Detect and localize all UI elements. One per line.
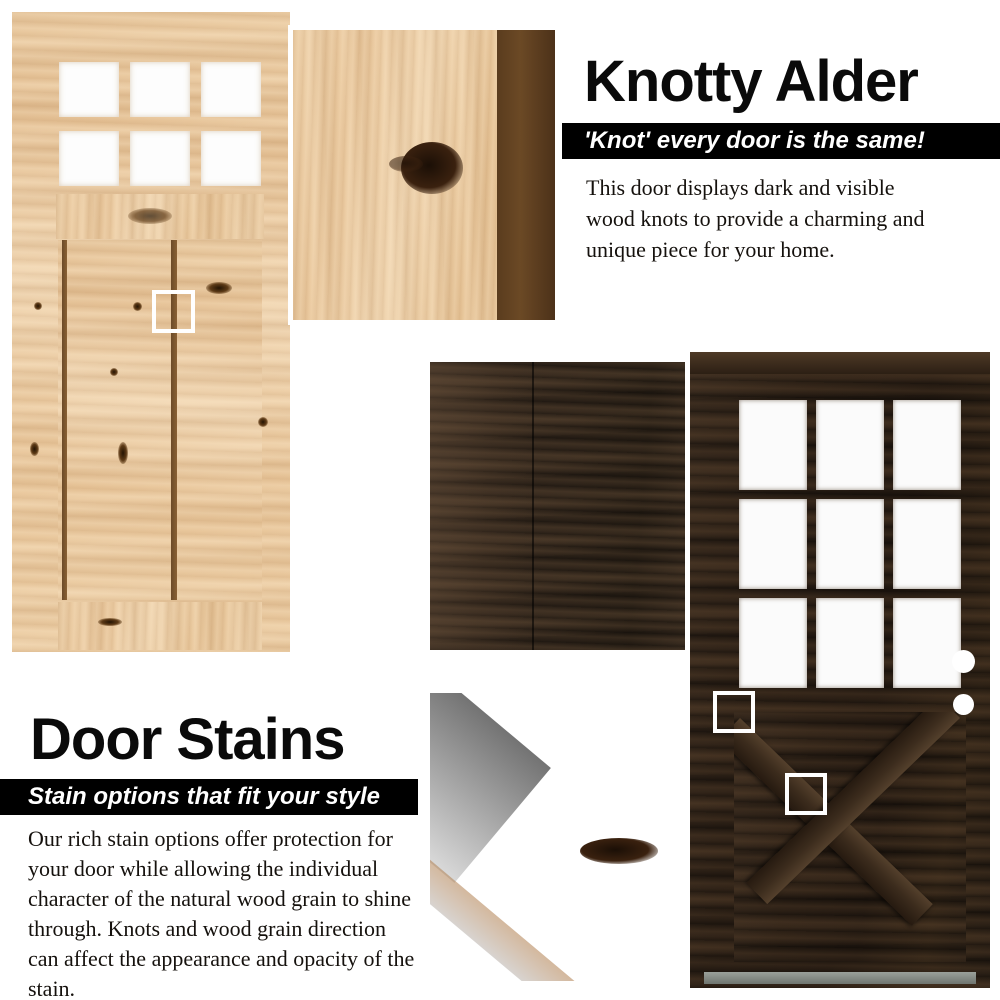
light-door-lite-6 — [201, 131, 261, 186]
dark-door-lite-5 — [816, 499, 884, 589]
knotty-alder-body: This door displays dark and visible wood… — [586, 172, 946, 265]
dark-door-sill — [704, 972, 976, 984]
swatch-diagonal-shadow — [425, 688, 551, 883]
dark-door-knot-highlight-lower — [785, 773, 827, 815]
swatch-seam — [532, 362, 534, 650]
closeup-edge-strip — [497, 30, 555, 320]
infographic-canvas: Knotty Alder 'Knot' every door is the sa… — [0, 0, 1000, 1000]
x-beam-up — [746, 712, 960, 904]
walnut-stain-swatch — [425, 688, 690, 986]
light-door-lite-1 — [59, 62, 119, 117]
dark-door-lite-3 — [893, 400, 961, 490]
wood-knot — [133, 302, 142, 311]
light-door-lite-4 — [59, 131, 119, 186]
wood-knot — [34, 302, 42, 310]
light-door-lite-5 — [130, 131, 190, 186]
dark-door-lite-2 — [816, 400, 884, 490]
dark-door-lite-7 — [739, 598, 807, 688]
knotty-alder-banner: 'Knot' every door is the same! — [562, 123, 1000, 159]
door-stains-body: Our rich stain options offer protection … — [28, 824, 418, 1000]
dark-door-x-panel — [734, 712, 966, 962]
door-hardware-dot-upper — [952, 650, 975, 673]
light-door-knot-highlight — [152, 290, 195, 333]
wood-knot-tail — [389, 156, 423, 172]
light-door-lite-2 — [130, 62, 190, 117]
swatch-left-plank — [430, 362, 532, 650]
espresso-stain-swatch — [425, 357, 690, 655]
panel-groove-left — [62, 240, 67, 600]
light-door-mid-rail — [56, 194, 264, 239]
dark-door-lite-1 — [739, 400, 807, 490]
wood-knot — [258, 417, 268, 427]
dark-door-lite-8 — [816, 598, 884, 688]
knotty-alder-banner-text: 'Knot' every door is the same! — [584, 127, 925, 155]
knot-closeup-image — [288, 25, 560, 325]
dark-door-image — [690, 352, 990, 988]
dark-door-lite-9 — [893, 598, 961, 688]
door-stains-banner: Stain options that fit your style — [0, 779, 418, 815]
wood-knot — [206, 282, 232, 294]
wood-knot — [98, 618, 122, 626]
wood-knot — [128, 208, 172, 224]
light-door-image — [12, 12, 290, 652]
door-stains-banner-text: Stain options that fit your style — [28, 783, 380, 811]
light-door-lite-3 — [201, 62, 261, 117]
door-stains-title: Door Stains — [30, 706, 345, 773]
wood-knot-slit — [580, 838, 658, 864]
dark-door-knot-highlight-upper — [713, 691, 755, 733]
wood-knot — [118, 442, 128, 464]
light-door-bottom-rail — [58, 602, 262, 650]
knotty-alder-title: Knotty Alder — [584, 48, 918, 115]
dark-door-lite-4 — [739, 499, 807, 589]
dark-door-head-casing — [690, 352, 990, 374]
dark-door-lite-6 — [893, 499, 961, 589]
wood-knot — [110, 368, 118, 376]
wood-knot — [30, 442, 39, 456]
door-hardware-dot-lower — [953, 694, 974, 715]
